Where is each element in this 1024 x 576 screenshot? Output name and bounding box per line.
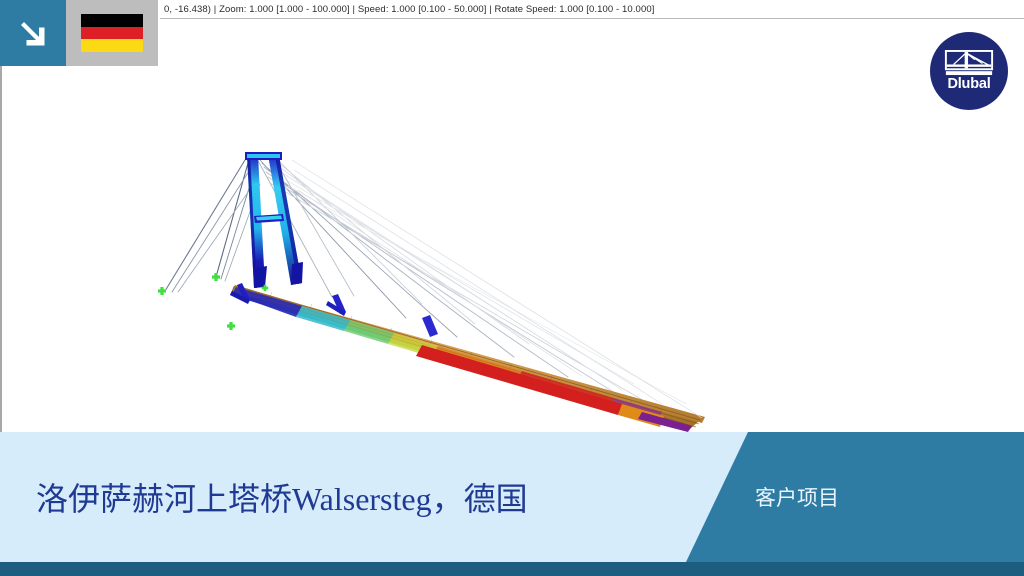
pylon-structure xyxy=(245,152,303,288)
arrow-down-right-icon xyxy=(15,15,51,51)
flag-band-red xyxy=(81,27,143,40)
footer-bar xyxy=(0,562,1024,576)
slide-stage: 0, -16.438) | Zoom: 1.000 [1.000 - 100.0… xyxy=(0,0,1024,576)
cable-group-backstays xyxy=(165,160,260,292)
dlubal-logo[interactable]: Dlubal xyxy=(930,32,1008,110)
status-bar: 0, -16.438) | Zoom: 1.000 [1.000 - 100.0… xyxy=(160,0,1024,19)
flag-band-gold xyxy=(81,39,143,52)
deck-crossbeams xyxy=(230,283,438,337)
status-bar-text: 0, -16.438) | Zoom: 1.000 [1.000 - 100.0… xyxy=(160,4,654,15)
category-tag: 客户项目 xyxy=(755,432,839,562)
flag-band-black xyxy=(81,14,143,27)
dlubal-logo-text: Dlubal xyxy=(947,77,990,92)
bridge-deck xyxy=(230,285,705,432)
nodal-supports xyxy=(158,273,268,330)
country-flag-badge xyxy=(66,0,158,66)
germany-flag xyxy=(81,14,143,52)
truss-bridge-icon xyxy=(944,50,994,76)
arrow-down-right-badge[interactable] xyxy=(0,0,66,66)
project-title: 洛伊萨赫河上塔桥Walsersteg，德国 xyxy=(36,432,528,562)
caption-banner: 洛伊萨赫河上塔桥Walsersteg，德国 客户项目 xyxy=(0,432,1024,562)
